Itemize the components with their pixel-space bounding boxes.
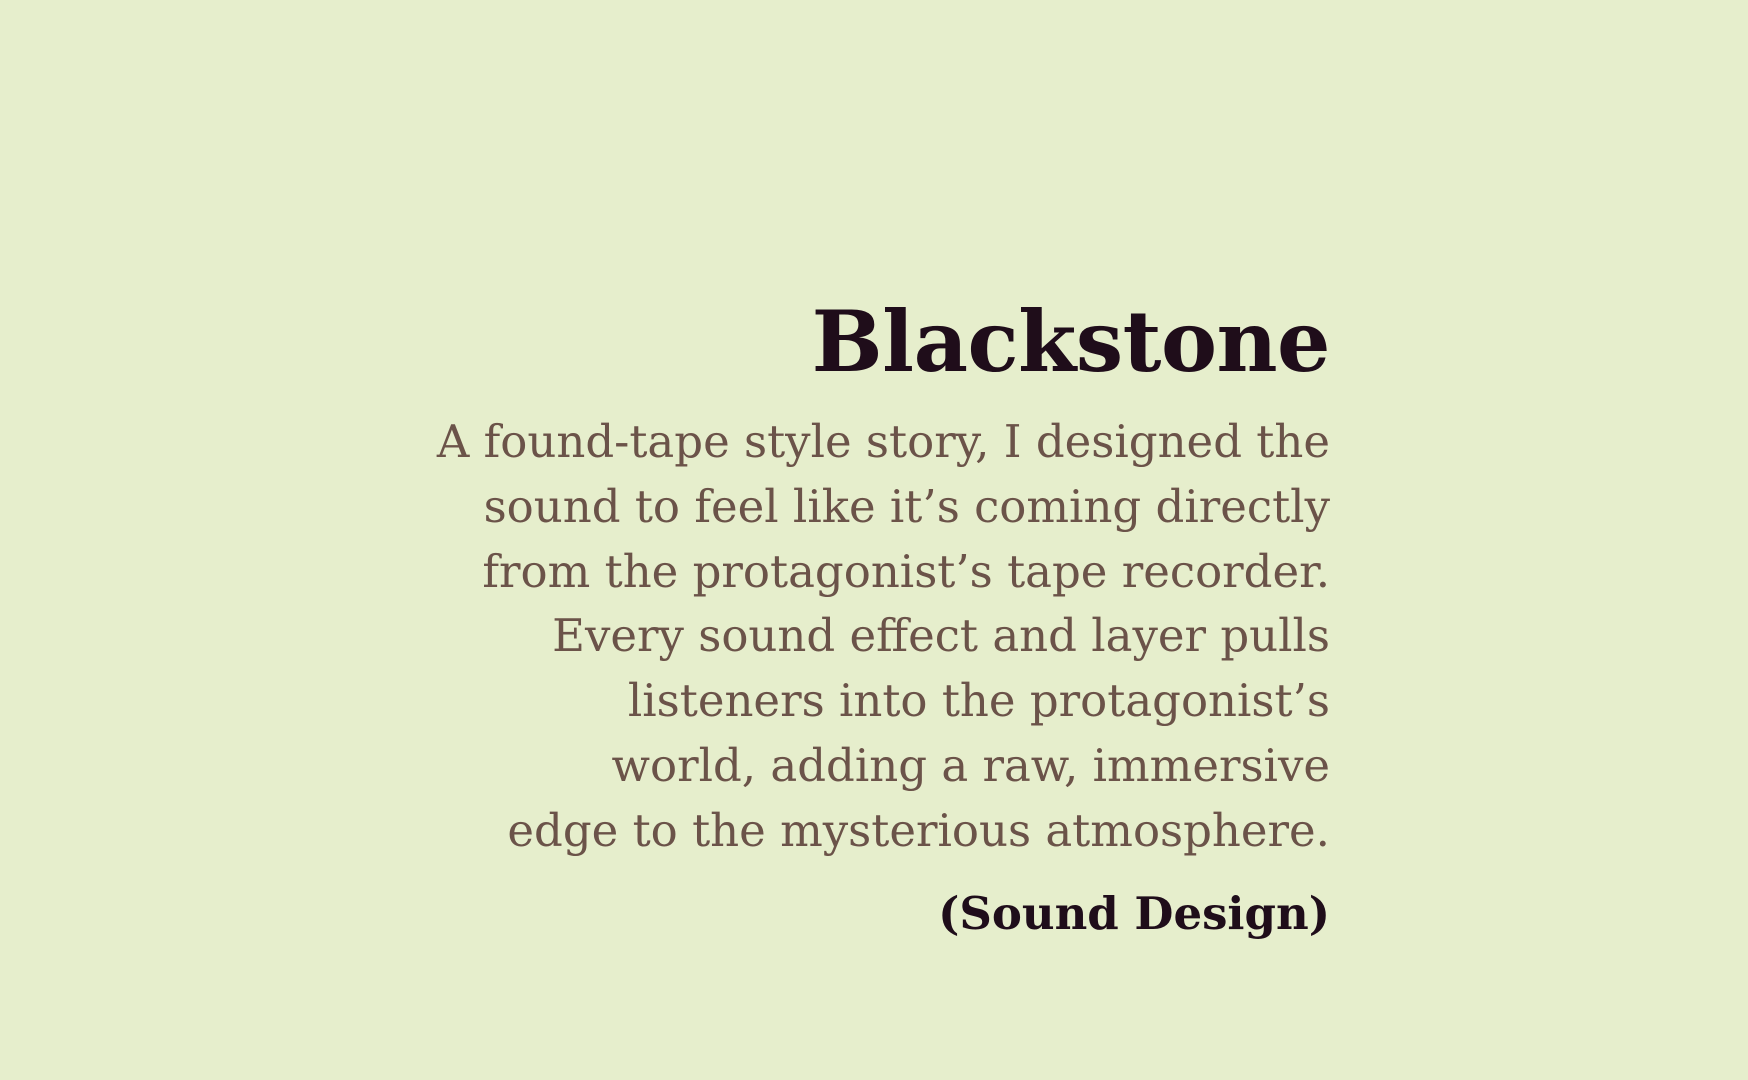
description-line: from the protagonist’s tape recorder. <box>230 540 1330 605</box>
project-text-block: Blackstone A found-tape style story, I d… <box>230 300 1330 946</box>
description-line: edge to the mysterious atmosphere. <box>230 799 1330 864</box>
description-line: Every sound effect and layer pulls <box>230 604 1330 669</box>
project-slide: Blackstone A found-tape style story, I d… <box>0 0 1748 1080</box>
description-line: sound to feel like it’s coming directly <box>230 475 1330 540</box>
description-line: world, adding a raw, immersive <box>230 734 1330 799</box>
page-title: Blackstone <box>230 300 1330 384</box>
description-line: A found-tape style story, I designed the <box>230 410 1330 475</box>
project-description: A found-tape style story, I designed the… <box>230 410 1330 864</box>
description-line: listeners into the protagonist’s <box>230 669 1330 734</box>
project-role-label: (Sound Design) <box>230 882 1330 947</box>
